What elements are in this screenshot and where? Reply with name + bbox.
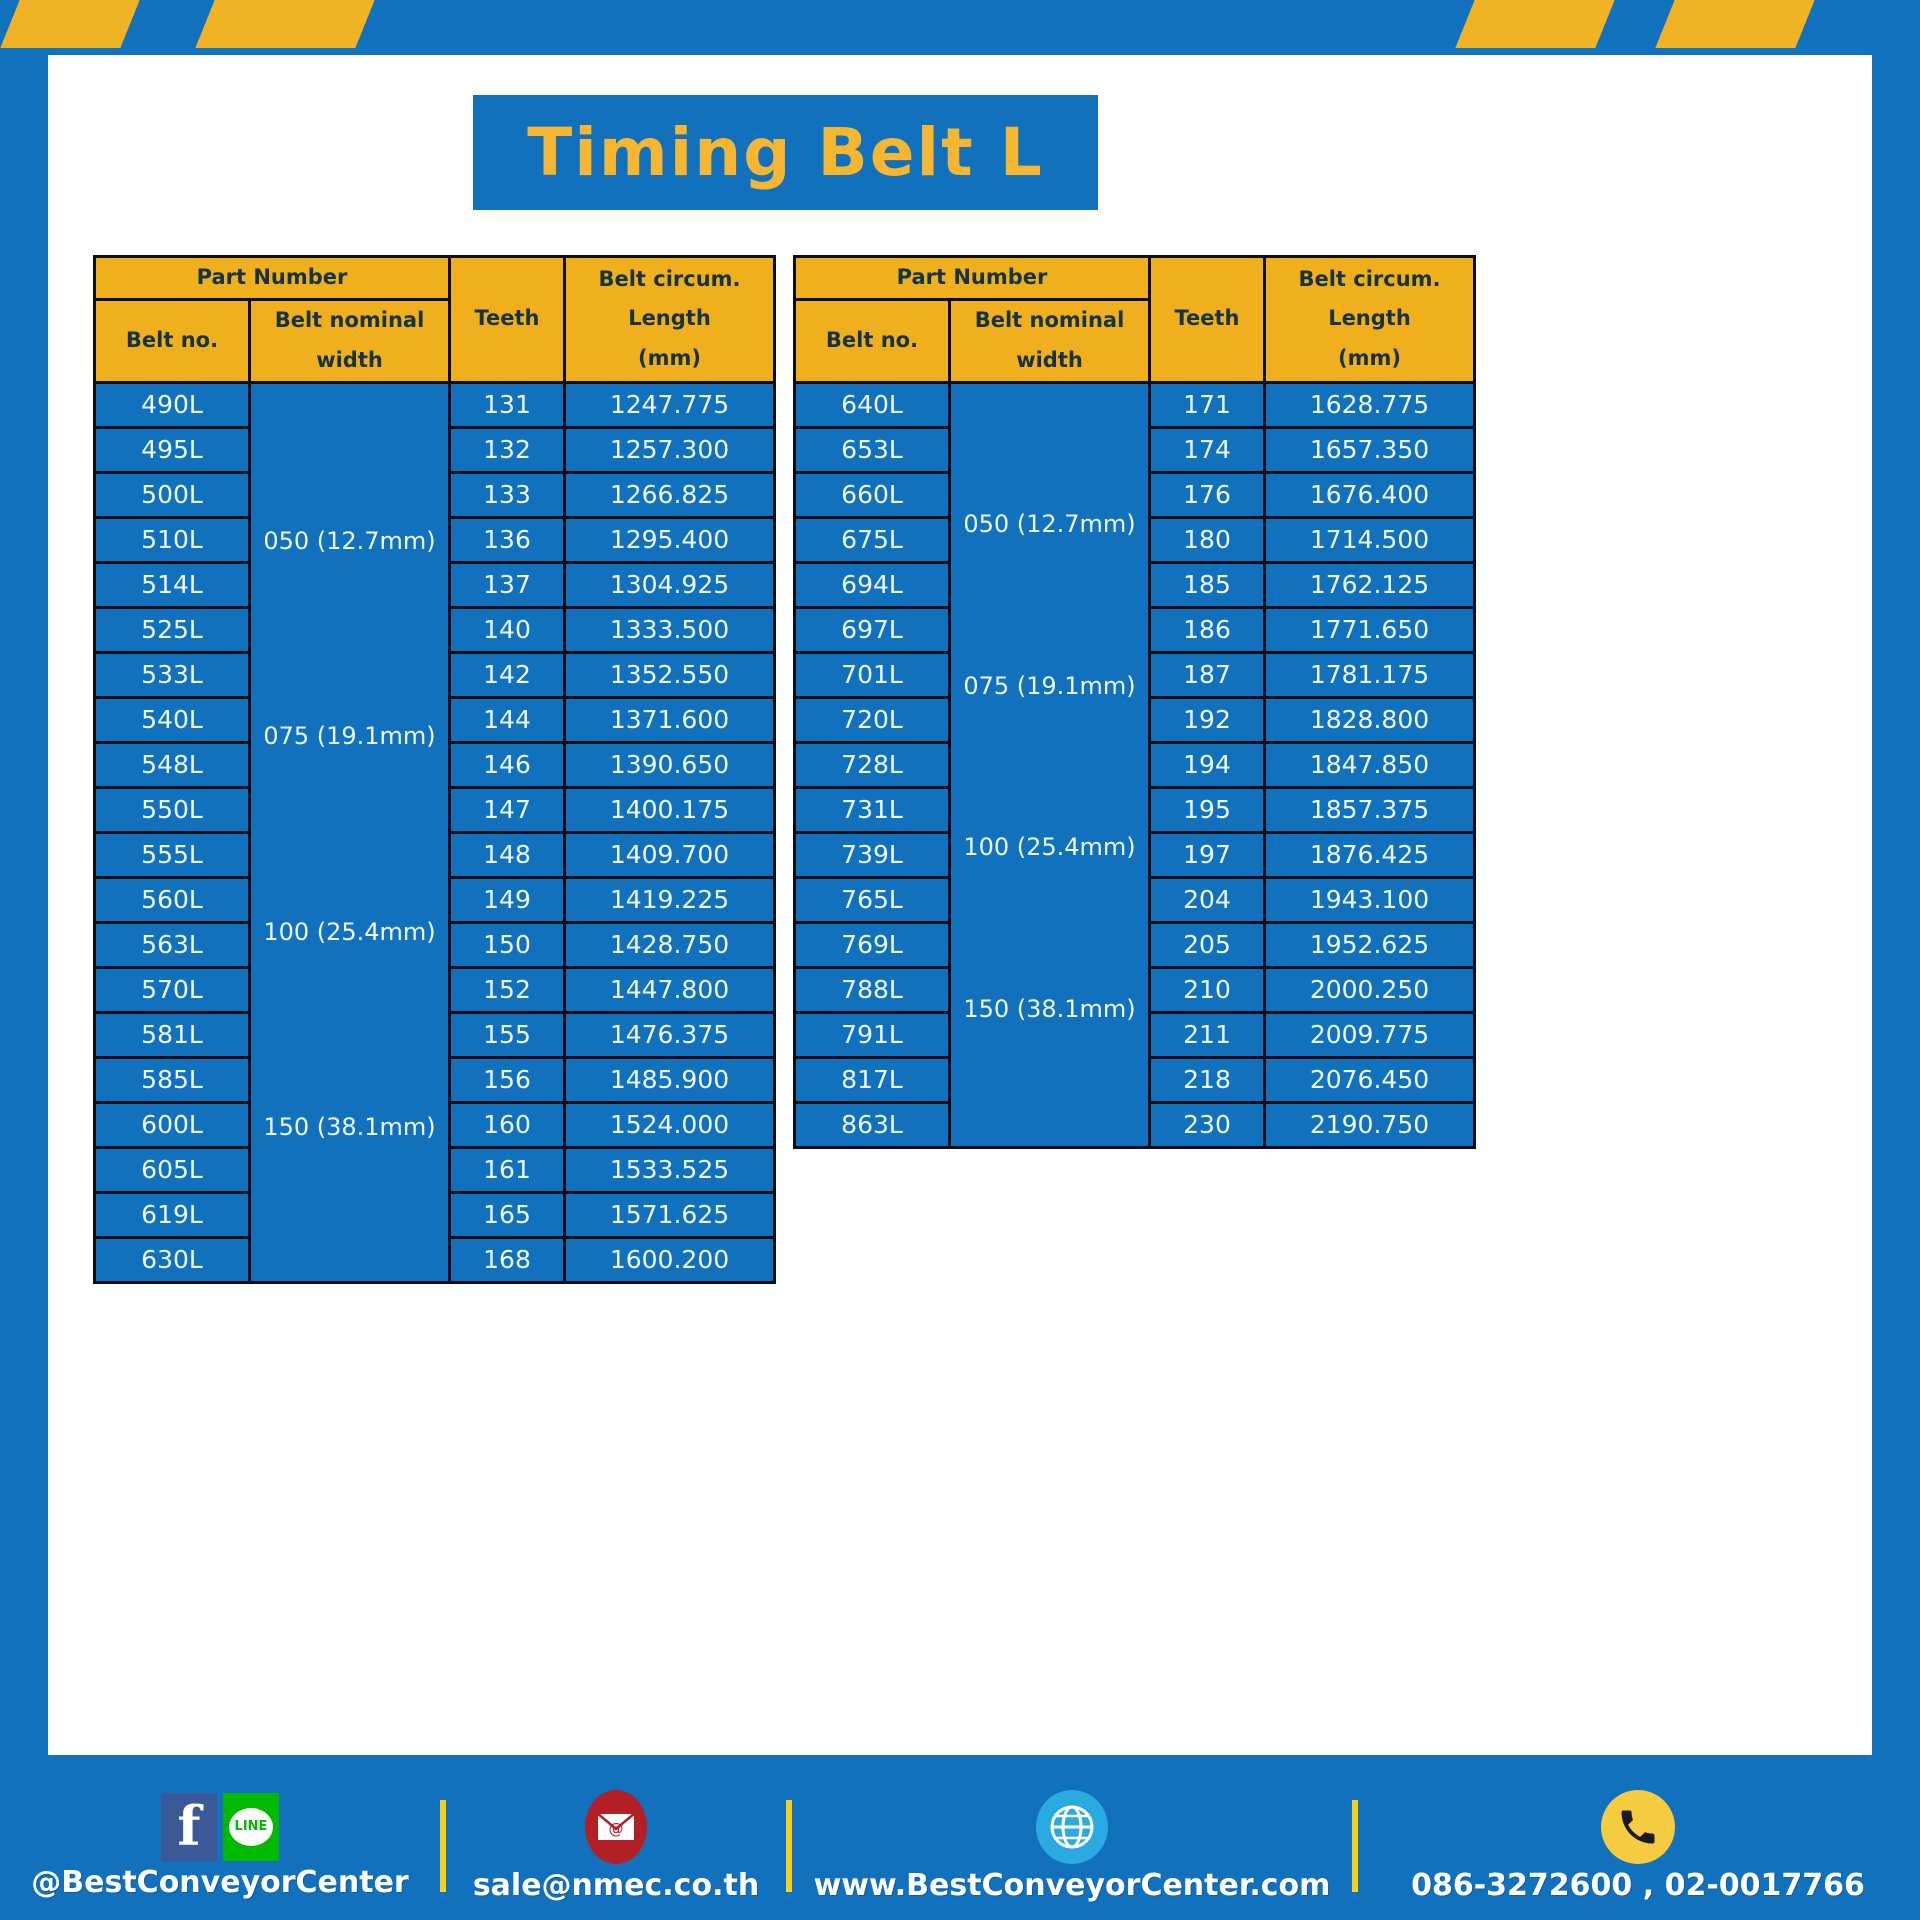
header-mm-line: (mm) bbox=[1266, 339, 1473, 379]
cell-teeth: 168 bbox=[450, 1237, 565, 1282]
cell-belt-no: 510L bbox=[95, 517, 250, 562]
cell-belt-no: 675L bbox=[795, 517, 950, 562]
cell-belt-no: 788L bbox=[795, 967, 950, 1012]
cell-teeth: 218 bbox=[1150, 1057, 1265, 1102]
cell-teeth: 176 bbox=[1150, 472, 1265, 517]
cell-belt-no: 630L bbox=[95, 1237, 250, 1282]
header-width-line2: width bbox=[251, 341, 448, 381]
header-length-line: Length bbox=[1266, 299, 1473, 339]
stripe-2 bbox=[193, 0, 377, 48]
header-belt-circum-line1: Belt circum. bbox=[566, 260, 773, 300]
cell-teeth: 152 bbox=[450, 967, 565, 1012]
footer-email-group[interactable]: @ sale@nmec.co.th bbox=[446, 1790, 786, 1903]
header-mm-line: (mm) bbox=[566, 339, 773, 379]
cell-teeth: 146 bbox=[450, 742, 565, 787]
cell-belt-no: 701L bbox=[795, 652, 950, 697]
page-title: Timing Belt L bbox=[527, 114, 1044, 191]
cell-teeth: 195 bbox=[1150, 787, 1265, 832]
phone-glyph bbox=[1616, 1805, 1660, 1849]
cell-belt-no: 660L bbox=[795, 472, 950, 517]
cell-length: 1304.925 bbox=[565, 562, 775, 607]
cell-belt-no: 495L bbox=[95, 427, 250, 472]
cell-teeth: 156 bbox=[450, 1057, 565, 1102]
footer-phone-group[interactable]: 086-3272600 , 02-0017766 bbox=[1358, 1790, 1918, 1903]
cell-teeth: 174 bbox=[1150, 427, 1265, 472]
header-belt-circum: Belt circum. Length (mm) bbox=[1265, 257, 1475, 383]
content-card: Timing Belt L Part Number Teeth Belt cir… bbox=[48, 55, 1872, 1755]
timing-belt-table-left: Part Number Teeth Belt circum. Length (m… bbox=[93, 255, 776, 1284]
footer-website-icons bbox=[1036, 1790, 1108, 1864]
cell-belt-no: 500L bbox=[95, 472, 250, 517]
cell-belt-no: 728L bbox=[795, 742, 950, 787]
cell-belt-no: 697L bbox=[795, 607, 950, 652]
cell-belt-no: 605L bbox=[95, 1147, 250, 1192]
table-body-right: 640L050 (12.7mm)075 (19.1mm)100 (25.4mm)… bbox=[795, 382, 1475, 1147]
cell-teeth: 133 bbox=[450, 472, 565, 517]
cell-teeth: 165 bbox=[450, 1192, 565, 1237]
belt-width-option-0: 050 (12.7mm) bbox=[951, 512, 1148, 537]
belt-width-option-3: 150 (38.1mm) bbox=[251, 1115, 448, 1140]
cell-length: 1943.100 bbox=[1265, 877, 1475, 922]
table-header-row-1: Part Number Teeth Belt circum. Length (m… bbox=[795, 257, 1475, 300]
cell-teeth: 186 bbox=[1150, 607, 1265, 652]
cell-belt-nominal-width: 050 (12.7mm)075 (19.1mm)100 (25.4mm)150 … bbox=[950, 382, 1150, 1147]
header-belt-nominal-width: Belt nominal width bbox=[250, 299, 450, 382]
cell-belt-no: 540L bbox=[95, 697, 250, 742]
belt-width-option-1: 075 (19.1mm) bbox=[251, 724, 448, 749]
belt-width-option-0: 050 (12.7mm) bbox=[251, 529, 448, 554]
cell-belt-no: 863L bbox=[795, 1102, 950, 1147]
cell-belt-no: 563L bbox=[95, 922, 250, 967]
cell-belt-no: 525L bbox=[95, 607, 250, 652]
cell-length: 1524.000 bbox=[565, 1102, 775, 1147]
cell-belt-no: 555L bbox=[95, 832, 250, 877]
cell-teeth: 155 bbox=[450, 1012, 565, 1057]
footer-social-icons: f LINE bbox=[161, 1793, 279, 1861]
header-teeth: Teeth bbox=[1150, 257, 1265, 383]
cell-belt-no: 550L bbox=[95, 787, 250, 832]
cell-length: 2076.450 bbox=[1265, 1057, 1475, 1102]
cell-length: 1266.825 bbox=[565, 472, 775, 517]
line-icon-label: LINE bbox=[229, 1808, 273, 1846]
stripe-4 bbox=[1653, 0, 1817, 48]
cell-teeth: 131 bbox=[450, 382, 565, 427]
cell-belt-no: 619L bbox=[95, 1192, 250, 1237]
cell-teeth: 171 bbox=[1150, 382, 1265, 427]
cell-teeth: 230 bbox=[1150, 1102, 1265, 1147]
cell-length: 1333.500 bbox=[565, 607, 775, 652]
table-row: 640L050 (12.7mm)075 (19.1mm)100 (25.4mm)… bbox=[795, 382, 1475, 427]
header-part-number: Part Number bbox=[795, 257, 1150, 300]
footer-website-group[interactable]: www.BestConveyorCenter.com bbox=[792, 1790, 1352, 1903]
cell-teeth: 149 bbox=[450, 877, 565, 922]
cell-length: 1600.200 bbox=[565, 1237, 775, 1282]
header-width-line2: width bbox=[951, 341, 1148, 381]
cell-length: 1533.525 bbox=[565, 1147, 775, 1192]
cell-belt-no: 640L bbox=[795, 382, 950, 427]
header-belt-circum-line1: Belt circum. bbox=[1266, 260, 1473, 300]
belt-width-option-2: 100 (25.4mm) bbox=[251, 920, 448, 945]
table-body-left: 490L050 (12.7mm)075 (19.1mm)100 (25.4mm)… bbox=[95, 382, 775, 1282]
cell-length: 1428.750 bbox=[565, 922, 775, 967]
svg-text:@: @ bbox=[609, 1820, 624, 1838]
cell-belt-no: 769L bbox=[795, 922, 950, 967]
envelope-glyph: @ bbox=[596, 1812, 636, 1842]
cell-length: 1485.900 bbox=[565, 1057, 775, 1102]
cell-teeth: 161 bbox=[450, 1147, 565, 1192]
cell-length: 1762.125 bbox=[1265, 562, 1475, 607]
cell-belt-no: 817L bbox=[795, 1057, 950, 1102]
cell-belt-no: 585L bbox=[95, 1057, 250, 1102]
cell-belt-nominal-width: 050 (12.7mm)075 (19.1mm)100 (25.4mm)150 … bbox=[250, 382, 450, 1282]
cell-belt-no: 600L bbox=[95, 1102, 250, 1147]
cell-belt-no: 791L bbox=[795, 1012, 950, 1057]
cell-length: 1876.425 bbox=[1265, 832, 1475, 877]
cell-teeth: 140 bbox=[450, 607, 565, 652]
phone-icon[interactable] bbox=[1601, 1790, 1675, 1864]
cell-teeth: 210 bbox=[1150, 967, 1265, 1012]
header-belt-no: Belt no. bbox=[795, 299, 950, 382]
cell-length: 1781.175 bbox=[1265, 652, 1475, 697]
cell-teeth: 185 bbox=[1150, 562, 1265, 607]
cell-belt-no: 653L bbox=[795, 427, 950, 472]
belt-width-option-3: 150 (38.1mm) bbox=[951, 997, 1148, 1022]
cell-length: 1952.625 bbox=[1265, 922, 1475, 967]
cell-belt-no: 581L bbox=[95, 1012, 250, 1057]
cell-teeth: 136 bbox=[450, 517, 565, 562]
cell-length: 1771.650 bbox=[1265, 607, 1475, 652]
cell-belt-no: 570L bbox=[95, 967, 250, 1012]
cell-teeth: 148 bbox=[450, 832, 565, 877]
cell-length: 1247.775 bbox=[565, 382, 775, 427]
cell-teeth: 132 bbox=[450, 427, 565, 472]
header-belt-nominal-width: Belt nominal width bbox=[950, 299, 1150, 382]
cell-teeth: 144 bbox=[450, 697, 565, 742]
cell-length: 1257.300 bbox=[565, 427, 775, 472]
cell-length: 1295.400 bbox=[565, 517, 775, 562]
header-width-line1: Belt nominal bbox=[951, 301, 1148, 341]
cell-length: 1828.800 bbox=[1265, 697, 1475, 742]
belt-width-option-1: 075 (19.1mm) bbox=[951, 674, 1148, 699]
header-belt-circum: Belt circum. Length (mm) bbox=[565, 257, 775, 383]
cell-teeth: 137 bbox=[450, 562, 565, 607]
cell-belt-no: 533L bbox=[95, 652, 250, 697]
cell-belt-no: 490L bbox=[95, 382, 250, 427]
globe-glyph bbox=[1047, 1802, 1097, 1852]
cell-belt-no: 765L bbox=[795, 877, 950, 922]
cell-length: 1390.650 bbox=[565, 742, 775, 787]
cell-teeth: 187 bbox=[1150, 652, 1265, 697]
cell-length: 1847.850 bbox=[1265, 742, 1475, 787]
cell-length: 1352.550 bbox=[565, 652, 775, 697]
header-length-line: Length bbox=[566, 299, 773, 339]
cell-belt-no: 514L bbox=[95, 562, 250, 607]
footer-website-url[interactable]: www.BestConveyorCenter.com bbox=[814, 1868, 1331, 1903]
cell-teeth: 211 bbox=[1150, 1012, 1265, 1057]
cell-length: 1447.800 bbox=[565, 967, 775, 1012]
cell-length: 1476.375 bbox=[565, 1012, 775, 1057]
email-icon[interactable]: @ bbox=[585, 1790, 647, 1864]
cell-belt-no: 548L bbox=[95, 742, 250, 787]
line-icon[interactable]: LINE bbox=[223, 1793, 279, 1861]
belt-width-option-2: 100 (25.4mm) bbox=[951, 835, 1148, 860]
header-width-line1: Belt nominal bbox=[251, 301, 448, 341]
cell-belt-no: 731L bbox=[795, 787, 950, 832]
cell-teeth: 204 bbox=[1150, 877, 1265, 922]
cell-teeth: 160 bbox=[450, 1102, 565, 1147]
table-header-row-1: Part Number Teeth Belt circum. Length (m… bbox=[95, 257, 775, 300]
cell-teeth: 147 bbox=[450, 787, 565, 832]
footer-email-icons: @ bbox=[585, 1790, 647, 1864]
footer-social-handle[interactable]: @BestConveyorCenter bbox=[31, 1865, 408, 1900]
footer-contact-bar: f LINE @BestConveyorCenter @ sale@nmec.c… bbox=[0, 1772, 1920, 1920]
page-title-banner: Timing Belt L bbox=[473, 95, 1098, 210]
cell-length: 1714.500 bbox=[1265, 517, 1475, 562]
cell-belt-no: 720L bbox=[795, 697, 950, 742]
cell-belt-no: 694L bbox=[795, 562, 950, 607]
cell-teeth: 180 bbox=[1150, 517, 1265, 562]
cell-teeth: 197 bbox=[1150, 832, 1265, 877]
facebook-icon[interactable]: f bbox=[161, 1793, 217, 1861]
cell-teeth: 150 bbox=[450, 922, 565, 967]
footer-phone-number[interactable]: 086-3272600 , 02-0017766 bbox=[1411, 1868, 1865, 1903]
cell-belt-no: 560L bbox=[95, 877, 250, 922]
timing-belt-table-right: Part Number Teeth Belt circum. Length (m… bbox=[793, 255, 1476, 1149]
cell-length: 1857.375 bbox=[1265, 787, 1475, 832]
header-part-number: Part Number bbox=[95, 257, 450, 300]
cell-belt-no: 739L bbox=[795, 832, 950, 877]
top-decorative-stripes bbox=[0, 0, 1920, 48]
cell-length: 1371.600 bbox=[565, 697, 775, 742]
cell-length: 1409.700 bbox=[565, 832, 775, 877]
cell-length: 1657.350 bbox=[1265, 427, 1475, 472]
stripe-3 bbox=[1453, 0, 1617, 48]
cell-teeth: 194 bbox=[1150, 742, 1265, 787]
cell-length: 2000.250 bbox=[1265, 967, 1475, 1012]
footer-social-group[interactable]: f LINE @BestConveyorCenter bbox=[0, 1793, 440, 1900]
footer-email-address[interactable]: sale@nmec.co.th bbox=[473, 1868, 759, 1903]
cell-teeth: 142 bbox=[450, 652, 565, 697]
stripe-1 bbox=[0, 0, 142, 48]
table-row: 490L050 (12.7mm)075 (19.1mm)100 (25.4mm)… bbox=[95, 382, 775, 427]
footer-phone-icons bbox=[1601, 1790, 1675, 1864]
cell-length: 1628.775 bbox=[1265, 382, 1475, 427]
cell-teeth: 205 bbox=[1150, 922, 1265, 967]
cell-length: 2009.775 bbox=[1265, 1012, 1475, 1057]
cell-length: 2190.750 bbox=[1265, 1102, 1475, 1147]
cell-length: 1400.175 bbox=[565, 787, 775, 832]
cell-length: 1676.400 bbox=[1265, 472, 1475, 517]
cell-length: 1419.225 bbox=[565, 877, 775, 922]
header-belt-no: Belt no. bbox=[95, 299, 250, 382]
header-teeth: Teeth bbox=[450, 257, 565, 383]
globe-icon[interactable] bbox=[1036, 1790, 1108, 1864]
cell-teeth: 192 bbox=[1150, 697, 1265, 742]
cell-length: 1571.625 bbox=[565, 1192, 775, 1237]
